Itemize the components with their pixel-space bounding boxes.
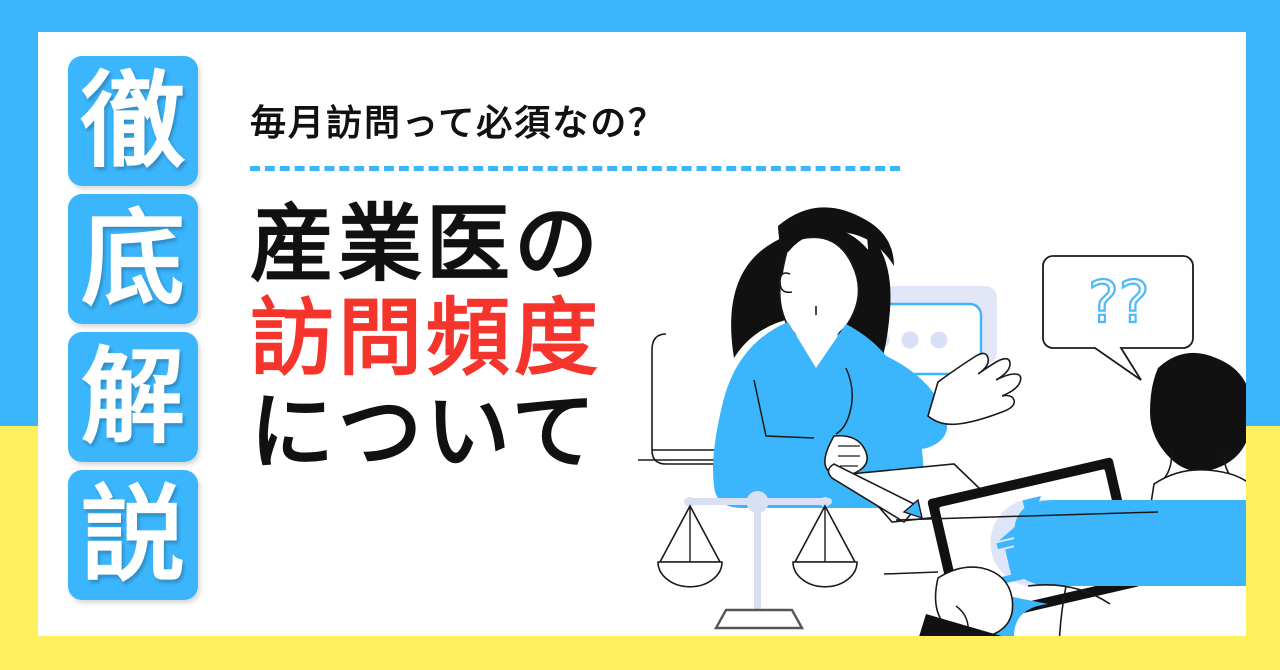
badge-tei: 底: [68, 194, 198, 324]
question-bubble: ??: [1043, 256, 1193, 380]
tablet-device: [927, 457, 1142, 628]
man-back-view: [1150, 353, 1246, 510]
dashed-divider: [250, 166, 900, 171]
text-block: 毎月訪問って必須なの？ 産業医の 訪問頻度 について: [250, 94, 950, 479]
badge-setsu: 説: [68, 470, 198, 600]
poster-canvas: 徹 底 解 説 毎月訪問って必須なの？ 産業医の 訪問頻度 について: [0, 0, 1280, 670]
headline-line-2-highlight: 訪問頻度: [250, 291, 950, 385]
armchair-right: [940, 500, 1246, 636]
justice-scale: [658, 491, 857, 628]
white-content-card: 徹 底 解 説 毎月訪問って必須なの？ 産業医の 訪問頻度 について: [38, 32, 1246, 636]
headline-line-3: について: [250, 385, 950, 479]
desk-line-right: [896, 512, 1158, 520]
question-bubble-text: ??: [1088, 268, 1150, 336]
headline-line-1: 産業医の: [250, 197, 950, 291]
courthouse-icon: [982, 490, 1088, 596]
badge-tetsu: 徹: [68, 56, 198, 186]
subtitle: 毎月訪問って必須なの？: [250, 94, 950, 146]
tablet-shadow: [918, 614, 1022, 636]
desk-line-lower: [884, 572, 938, 574]
man-hand: [936, 567, 1013, 636]
page-title: 産業医の 訪問頻度 について: [250, 197, 950, 479]
badge-stack: 徹 底 解 説: [68, 56, 198, 600]
badge-kai: 解: [68, 332, 198, 462]
